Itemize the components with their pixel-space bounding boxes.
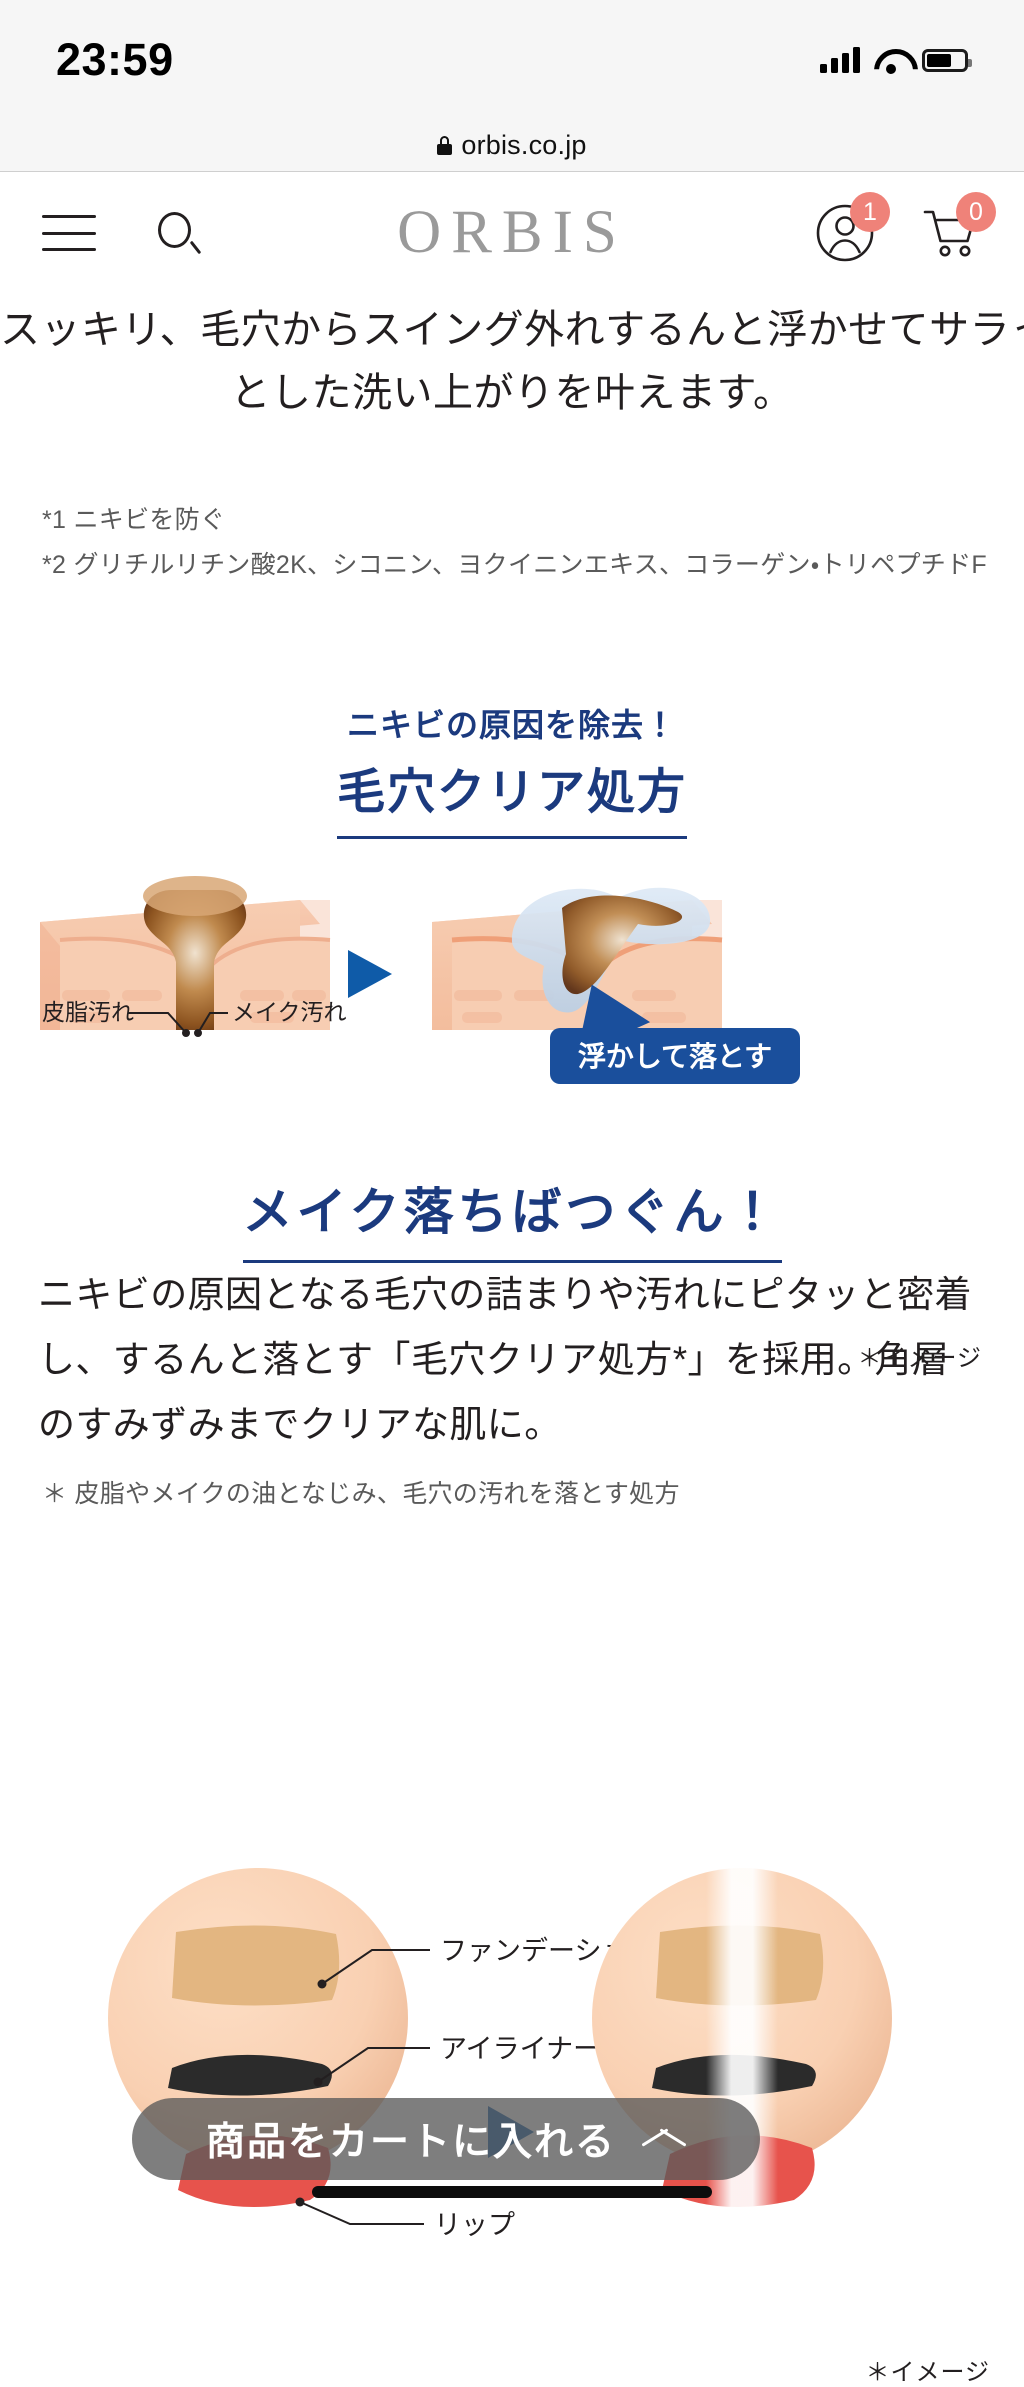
callout-text: 浮かして落とす — [578, 1041, 772, 1072]
note-item: *2 グリチルリチン酸2K、シコニン、ヨクイニンエキス、コラーゲン・トリペプチド… — [42, 543, 987, 588]
hamburger-menu-icon[interactable] — [42, 215, 96, 251]
browser-url-bar[interactable]: orbis.co.jp — [0, 120, 1024, 172]
site-header: ORBIS 1 0 — [0, 172, 1024, 294]
cellular-signal-icon — [820, 47, 860, 73]
cart-icon[interactable]: 0 — [920, 202, 982, 264]
ingredient-notes: *1 ニキビを防ぐ *2 グリチルリチン酸2K、シコニン、ヨクイニンエキス、コラ… — [42, 498, 987, 587]
image-note-2: ＊イメージ — [865, 2352, 990, 2387]
label-lip: リップ — [434, 2210, 515, 2240]
header-right-actions: 1 0 — [814, 202, 1024, 264]
note-item: *1 ニキビを防ぐ — [42, 498, 987, 543]
add-to-cart-button[interactable]: 商品をカートに入れる — [132, 2098, 760, 2180]
section2-title-text: メイク落ちばつぐん！ — [243, 1172, 782, 1263]
label-makeup: メイク汚れ — [232, 999, 347, 1025]
pore-before-illustration: 皮脂汚れ メイク汚れ — [40, 876, 347, 1037]
section1-title-text: 毛穴クリア処方 — [337, 752, 687, 839]
section1-body: ニキビの原因となる毛穴の詰まりや汚れにピタッと密着し、するんと落とす「毛穴クリア… — [38, 1262, 986, 1457]
wifi-icon — [874, 47, 908, 73]
triangle-right-icon — [348, 950, 392, 998]
account-icon[interactable]: 1 — [814, 202, 876, 264]
lead-paragraph-clipped: スッキリ、毛穴からスイング外れするんと浮かせてサラっと — [0, 298, 1024, 363]
section1-title: 毛穴クリア処方 — [0, 752, 1024, 839]
add-to-cart-label: 商品をカートに入れる — [206, 2111, 616, 2167]
battery-icon — [922, 49, 968, 72]
lead-paragraph-line2: とした洗い上がりを叶えます。 — [0, 360, 1024, 418]
search-icon[interactable] — [156, 210, 202, 256]
section2-title: メイク落ちばつぐん！ — [0, 1172, 1024, 1263]
makeup-before: ファンデーション アイライナー リップ — [108, 1868, 655, 2240]
account-badge: 1 — [850, 192, 890, 232]
lock-icon — [437, 136, 452, 155]
label-eyeliner: アイライナー — [440, 2034, 600, 2064]
label-sebum: 皮脂汚れ — [42, 999, 134, 1025]
ios-status-bar: 23:59 — [0, 0, 1024, 120]
pore-after-illustration: 浮かして落とす — [432, 888, 800, 1084]
url-text: orbis.co.jp — [461, 130, 586, 161]
status-bar-time: 23:59 — [56, 34, 174, 86]
header-left-actions — [0, 210, 202, 256]
status-bar-indicators — [820, 47, 968, 73]
section1-subtitle: ニキビの原因を除去！ — [0, 700, 1024, 746]
chevron-up-icon[interactable] — [642, 2126, 686, 2152]
section1-body-note: ＊ 皮脂やメイクの油となじみ、毛穴の汚れを落とす処方 — [42, 1474, 680, 1510]
pore-illustration: 皮脂汚れ メイク汚れ — [0, 862, 1024, 1122]
home-indicator — [312, 2186, 712, 2198]
cart-badge: 0 — [956, 192, 996, 232]
